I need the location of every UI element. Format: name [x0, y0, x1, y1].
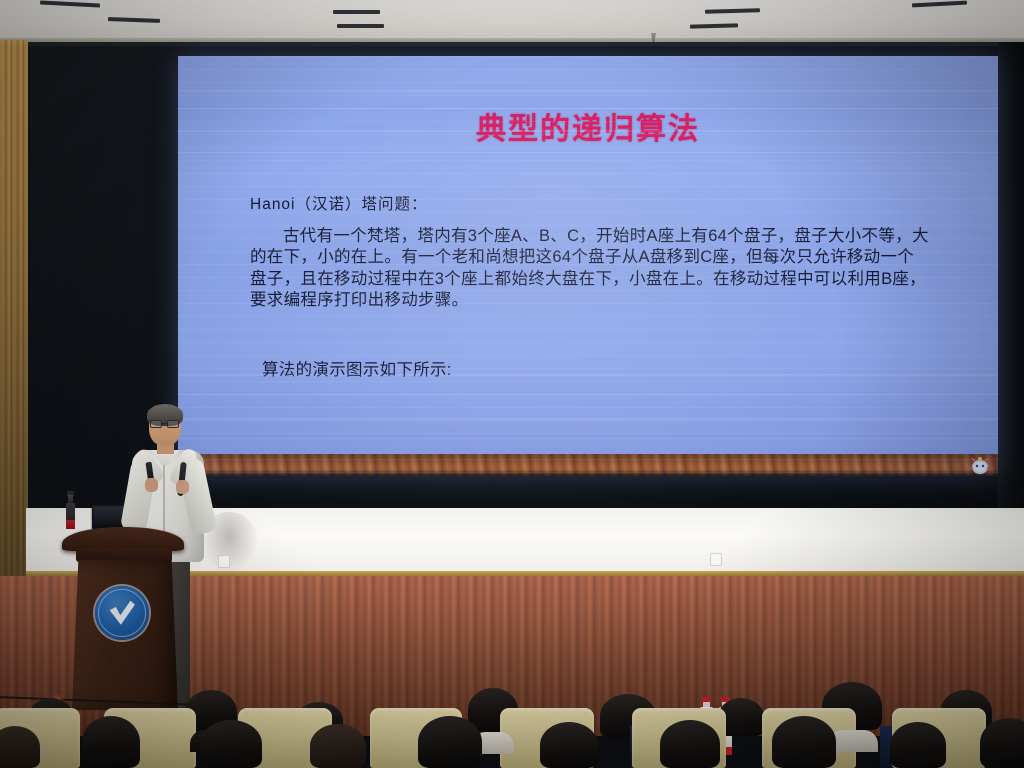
- ceiling-vent-icon: [333, 10, 380, 14]
- projector-band: [178, 90, 998, 92]
- audience-member: [200, 720, 262, 768]
- audience-seating: [0, 690, 1024, 768]
- bottle-body: [66, 503, 75, 529]
- presenter-right-hand: [176, 480, 189, 494]
- projector-band: [178, 418, 998, 420]
- slide-closing-line: 算法的演示图示如下所示:: [262, 360, 930, 382]
- audience-member: [82, 716, 140, 768]
- slide-title: 典型的递归算法: [178, 104, 998, 148]
- deck-shadow: [178, 470, 998, 476]
- audience-member: [418, 716, 482, 768]
- university-emblem: [95, 586, 149, 640]
- projector-band: [178, 394, 998, 395]
- right-wall: [998, 42, 1024, 562]
- slide-intro-line: Hanoi（汉诺）塔问题：: [250, 194, 930, 216]
- glasses-lens-right: [167, 420, 179, 428]
- glasses-lens-left: [150, 420, 162, 428]
- audience-member: [772, 716, 836, 768]
- wood-slat-wall-shading: [0, 40, 28, 640]
- projector-band: [178, 152, 998, 153]
- projection-screen: 典型的递归算法 Hanoi（汉诺）塔问题： 古代有一个梵塔，塔内有3个座A、B、…: [178, 56, 998, 476]
- backdrop-rim: [26, 42, 1024, 46]
- audience-member: [540, 722, 598, 768]
- podium-neck: [76, 548, 172, 562]
- projector-band: [178, 438, 998, 439]
- slide-paragraph: 古代有一个梵塔，塔内有3个座A、B、C，开始时A座上有64个盘子，盘子大小不等，…: [250, 226, 930, 312]
- audience-member: [980, 718, 1024, 768]
- glasses-icon: [150, 420, 180, 428]
- ceiling-vent-icon: [337, 24, 384, 28]
- audience-member: [660, 720, 720, 768]
- audience-member: [310, 724, 366, 768]
- slide-body: Hanoi（汉诺）塔问题： 古代有一个梵塔，塔内有3个座A、B、C，开始时A座上…: [250, 194, 930, 381]
- beverage-bottle: [66, 491, 75, 529]
- cartoon-mascot-icon: [968, 454, 992, 476]
- presenter-left-hand: [145, 478, 158, 492]
- bottle-label: [66, 520, 75, 529]
- audience-member: [890, 722, 946, 768]
- power-outlet-icon: [710, 553, 722, 566]
- lecture-hall-scene: 典型的递归算法 Hanoi（汉诺）塔问题： 古代有一个梵塔，塔内有3个座A、B、…: [0, 0, 1024, 768]
